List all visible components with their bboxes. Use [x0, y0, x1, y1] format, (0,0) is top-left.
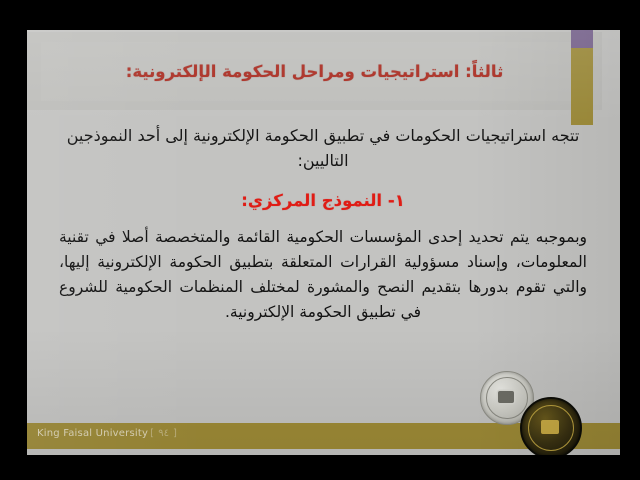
frame-edge-top — [0, 0, 640, 30]
presentation-slide: ثالثاً: استراتيجيات ومراحل الحكومة الإلك… — [27, 30, 620, 455]
sub-heading-central-model: ١- النموذج المركزي: — [53, 190, 593, 211]
slide-title-inner-panel: ثالثاً: استراتيجيات ومراحل الحكومة الإلك… — [41, 42, 588, 101]
frame-edge-left — [0, 0, 27, 480]
frame-edge-right — [620, 0, 640, 480]
footer-institution-name: King Faisal University — [37, 428, 148, 439]
video-frame: ثالثاً: استراتيجيات ومراحل الحكومة الإلك… — [0, 0, 640, 480]
slide-title-band: ثالثاً: استراتيجيات ومراحل الحكومة الإلك… — [27, 32, 602, 110]
intro-paragraph: تتجه استراتيجيات الحكومات في تطبيق الحكو… — [53, 124, 593, 174]
accent-bar-gold-segment — [571, 48, 593, 125]
university-logo-group — [468, 365, 618, 455]
logo-clip — [468, 365, 618, 455]
body-paragraph: وبموجبه يتم تحديد إحدى المؤسسات الحكومية… — [59, 225, 587, 325]
footer-bracket-close: ] — [173, 428, 177, 439]
footer-bracket-open: [ — [150, 428, 154, 439]
accent-bar-purple-segment — [571, 30, 593, 48]
frame-edge-bottom — [0, 455, 640, 480]
footer-page-number: ٩٤ — [158, 428, 169, 439]
accent-bar — [571, 30, 593, 130]
footer-institution-line: King Faisal University[٩٤] — [37, 428, 179, 439]
king-faisal-university-seal-gold-icon — [520, 397, 582, 455]
slide-title: ثالثاً: استراتيجيات ومراحل الحكومة الإلك… — [126, 62, 504, 82]
